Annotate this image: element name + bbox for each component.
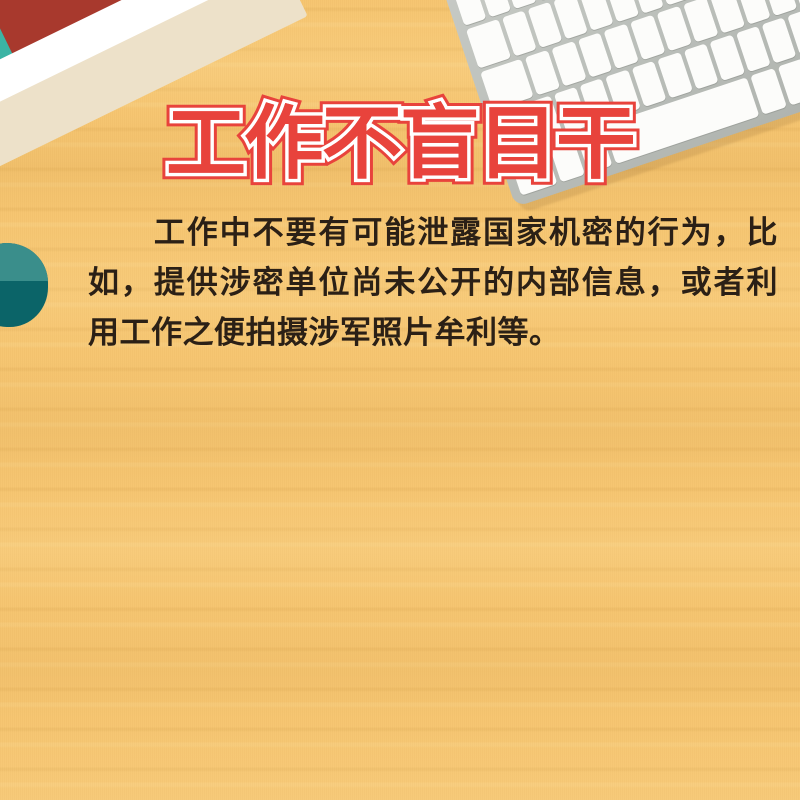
page-title: 工作不盲目干 bbox=[0, 104, 800, 184]
keyboard-key bbox=[452, 0, 486, 26]
body-paragraph: 工作中不要有可能泄露国家机密的行为，比如，提供涉密单位尚未公开的内部信息，或者利… bbox=[88, 208, 778, 358]
poster-canvas: 工作不盲目干 工作不盲目干 工作不盲目干 工作中不要有可能泄露国家机密的行为，比… bbox=[0, 0, 800, 800]
teal-blob-highlight bbox=[0, 243, 48, 281]
